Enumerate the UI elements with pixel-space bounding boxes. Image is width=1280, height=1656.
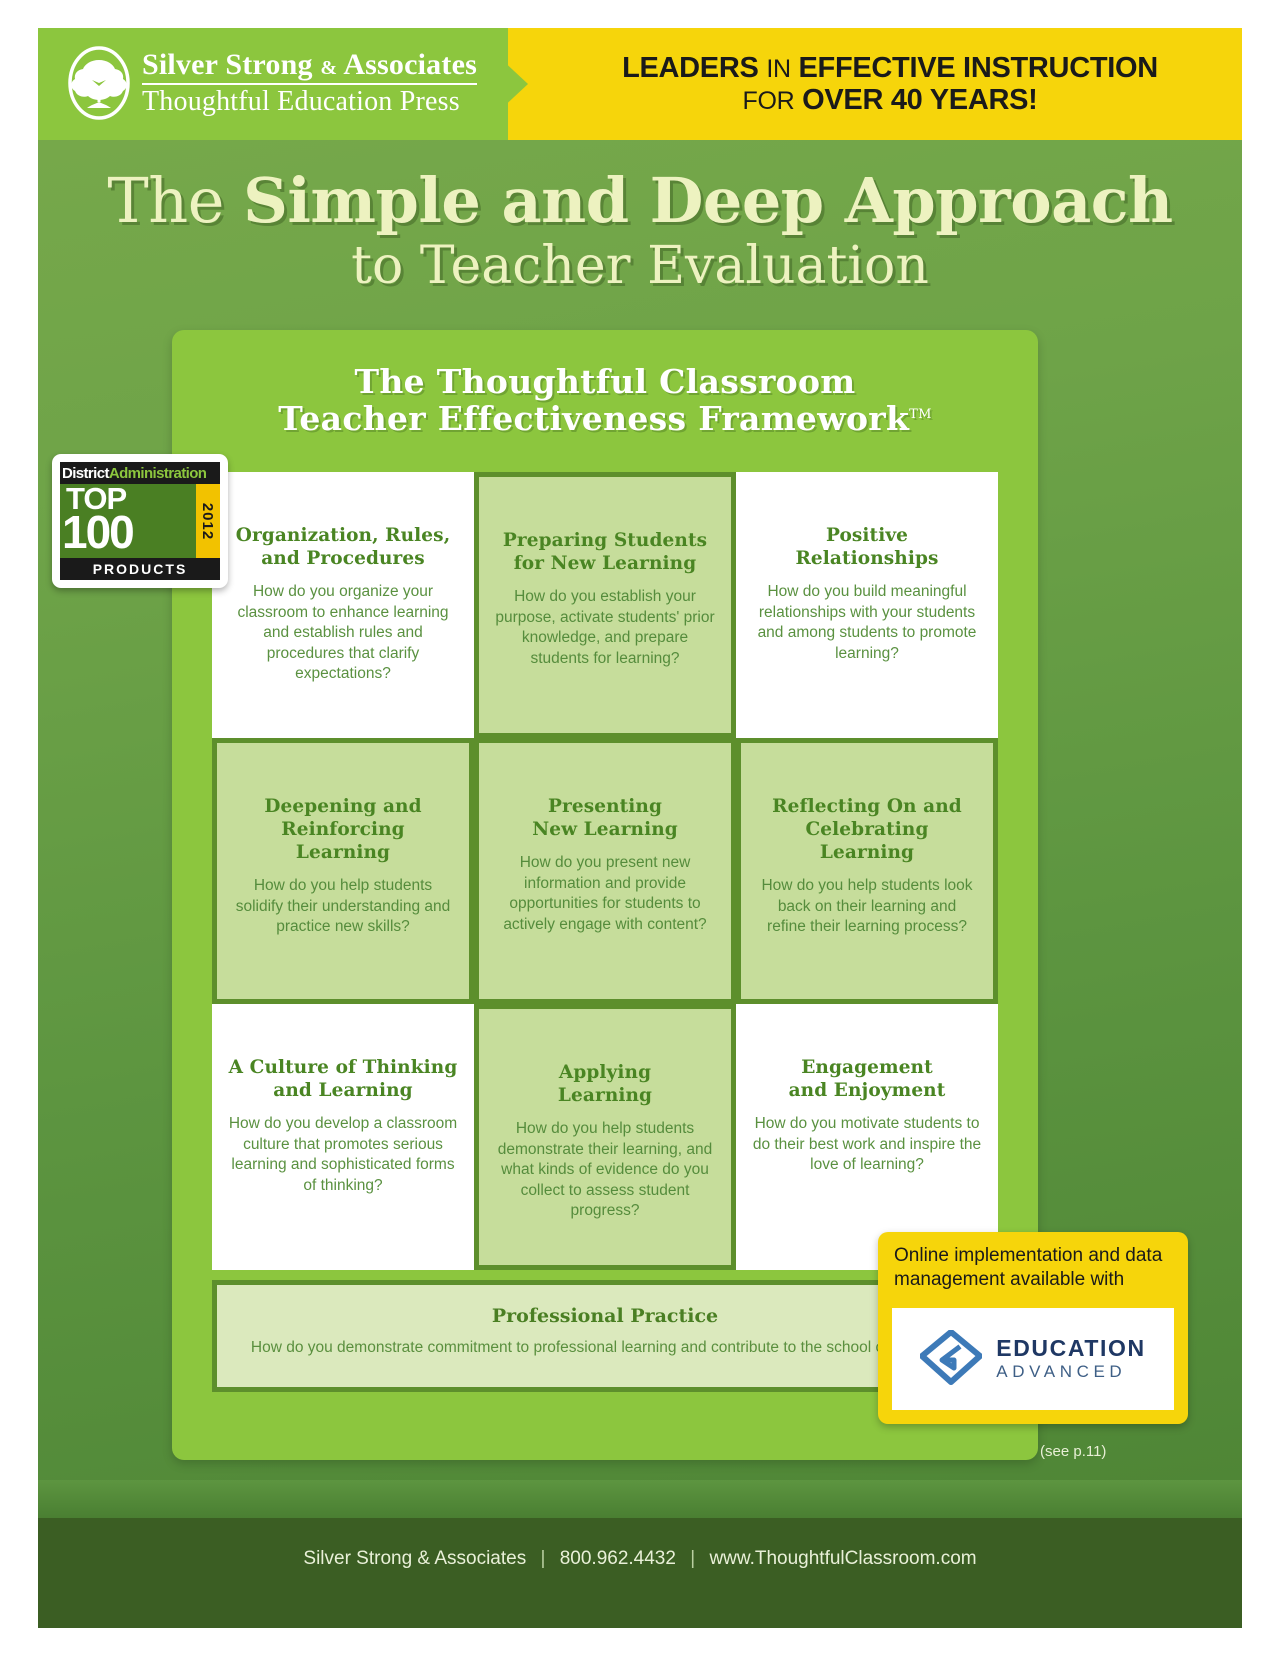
tagline-line-1: LEADERS IN EFFECTIVE INSTRUCTION — [622, 52, 1158, 84]
framework-cell-question: How do you present new information and p… — [495, 853, 715, 935]
badge-100-text: 100 — [62, 510, 133, 554]
top-100-products-badge: DistrictAdministration TOP 100 2012 PROD… — [52, 454, 228, 588]
badge-main: TOP 100 2012 — [60, 484, 220, 558]
footer-phone[interactable]: 800.962.4432 — [560, 1548, 676, 1569]
footer-contact: Silver Strong & Associates | 800.962.443… — [38, 1548, 1242, 1570]
badge-publisher-district: District — [60, 465, 109, 482]
framework-cell: PresentingNew LearningHow do you present… — [474, 738, 736, 1004]
education-advanced-logo: EDUCATION ADVANCED — [892, 1308, 1174, 1410]
framework-cell-title: A Culture of Thinkingand Learning — [228, 1056, 458, 1102]
brand-wordmark: Silver Strong & Associates Thoughtful Ed… — [142, 50, 477, 116]
brand-ampersand: & — [320, 57, 337, 79]
professional-practice-title: Professional Practice — [217, 1305, 993, 1327]
page-title-line-2: to Teacher Evaluation — [38, 238, 1242, 295]
framework-heading-line-2: Teacher Effectiveness FrameworkTM — [172, 401, 1038, 438]
tagline-line-2: FOR OVER 40 YEARS! — [742, 84, 1037, 116]
education-advanced-callout[interactable]: Online implementation and data managemen… — [878, 1232, 1188, 1424]
brand-silver-strong: Silver Strong — [142, 48, 313, 81]
professional-practice-question: How do you demonstrate commitment to pro… — [217, 1338, 993, 1359]
badge-products-text: PRODUCTS — [60, 558, 220, 580]
tagline-effective-instruction: EFFECTIVE INSTRUCTION — [798, 52, 1157, 84]
framework-cell-title: Preparing Studentsfor New Learning — [495, 529, 715, 575]
footer-top-strip — [38, 1480, 1242, 1518]
framework-cell-title: Deepening andReinforcing Learning — [233, 795, 453, 864]
framework-heading-text: Teacher Effectiveness Framework — [278, 399, 909, 438]
brand-divider — [142, 83, 477, 85]
framework-cell-title: Reflecting On andCelebrating Learning — [757, 795, 977, 864]
tagline-leaders: LEADERS — [622, 52, 758, 84]
framework-cell-question: How do you develop a classroom culture t… — [228, 1114, 458, 1196]
see-page-note: (see p.11) — [1040, 1443, 1106, 1460]
brand-line-2: Thoughtful Education Press — [142, 88, 477, 117]
framework-cell: Deepening andReinforcing LearningHow do … — [212, 738, 474, 1004]
framework-cell-question: How do you help students look back on th… — [757, 876, 977, 937]
page-title: The Simple and Deep Approach to Teacher … — [38, 168, 1242, 295]
footer: Silver Strong & Associates | 800.962.443… — [38, 1480, 1242, 1628]
framework-cell-question: How do you motivate students to do their… — [752, 1114, 982, 1175]
tagline-for: FOR — [742, 87, 794, 115]
framework-grid: Organization, Rules,and ProceduresHow do… — [212, 472, 998, 1270]
header-bar: Silver Strong & Associates Thoughtful Ed… — [38, 28, 1242, 140]
brand-line-1: Silver Strong & Associates — [142, 50, 477, 81]
brand-logo[interactable]: Silver Strong & Associates Thoughtful Ed… — [68, 46, 477, 120]
header-arrow-shape — [468, 28, 528, 140]
framework-cell-question: How do you help students solidify their … — [233, 876, 453, 937]
logo-education-text: EDUCATION — [996, 1336, 1145, 1361]
framework-cell: Engagementand EnjoymentHow do you motiva… — [736, 1004, 998, 1270]
logo-advanced-text: ADVANCED — [996, 1363, 1145, 1382]
framework-heading-line-1: The Thoughtful Classroom — [172, 364, 1038, 401]
framework-cell-title: PositiveRelationships — [752, 524, 982, 570]
badge-publisher-administration: Administration — [109, 465, 206, 482]
framework-cell: A Culture of Thinkingand LearningHow do … — [212, 1004, 474, 1270]
tagline-in: IN — [766, 55, 790, 83]
framework-cell-question: How do you organize your classroom to en… — [228, 582, 458, 684]
tagline-banner: LEADERS IN EFFECTIVE INSTRUCTION FOR OVE… — [538, 28, 1242, 140]
framework-heading: The Thoughtful Classroom Teacher Effecti… — [172, 330, 1038, 438]
tree-icon — [68, 46, 130, 120]
framework-cell-title: PresentingNew Learning — [495, 795, 715, 841]
tagline-over-40-years: OVER 40 YEARS! — [802, 84, 1037, 116]
footer-separator-1: | — [532, 1548, 555, 1569]
education-advanced-wordmark: EDUCATION ADVANCED — [996, 1336, 1145, 1382]
page-title-line-1: The Simple and Deep Approach — [38, 168, 1242, 234]
footer-separator-2: | — [681, 1548, 704, 1569]
title-simple-and-deep-approach: Simple and Deep Approach — [243, 164, 1172, 237]
badge-year-text: 2012 — [200, 502, 217, 539]
title-the: The — [107, 164, 243, 237]
badge-year-strip: 2012 — [196, 484, 220, 558]
badge-inner: DistrictAdministration TOP 100 2012 PROD… — [60, 462, 220, 580]
framework-cell: Reflecting On andCelebrating LearningHow… — [736, 738, 998, 1004]
framework-cell-question: How do you establish your purpose, activ… — [495, 587, 715, 669]
footer-website[interactable]: www.ThoughtfulClassroom.com — [709, 1548, 976, 1569]
framework-cell: Preparing Studentsfor New LearningHow do… — [474, 472, 736, 738]
poster-page: Silver Strong & Associates Thoughtful Ed… — [0, 0, 1280, 1656]
callout-text: Online implementation and data managemen… — [878, 1232, 1188, 1291]
framework-cell-title: Organization, Rules,and Procedures — [228, 524, 458, 570]
framework-cell-question: How do you build meaningful relationship… — [752, 582, 982, 664]
framework-cell: PositiveRelationshipsHow do you build me… — [736, 472, 998, 738]
framework-cell-question: How do you help students demonstrate the… — [495, 1119, 715, 1221]
trademark-symbol: TM — [909, 407, 932, 422]
framework-cell: Organization, Rules,and ProceduresHow do… — [212, 472, 474, 738]
brand-associates: Associates — [343, 48, 477, 81]
framework-cell-title: ApplyingLearning — [495, 1061, 715, 1107]
framework-cell: ApplyingLearningHow do you help students… — [474, 1004, 736, 1270]
footer-company: Silver Strong & Associates — [303, 1548, 526, 1569]
framework-cell-title: Engagementand Enjoyment — [752, 1056, 982, 1102]
education-advanced-diamond-icon — [920, 1330, 982, 1388]
